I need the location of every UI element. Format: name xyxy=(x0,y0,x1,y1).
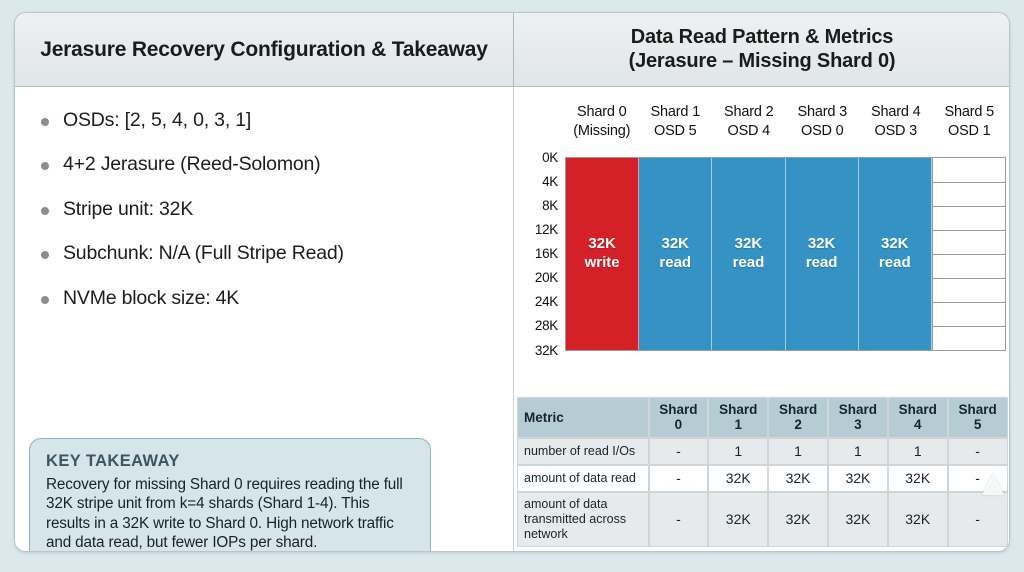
cell-shard3: 32K xyxy=(828,492,888,547)
cell-shard5: - xyxy=(948,438,1008,465)
bar-label-op: read xyxy=(733,254,765,273)
list-item: Subchunk: N/A (Full Stripe Read) xyxy=(41,242,491,264)
bar-label-shard0: 32K write xyxy=(585,235,620,273)
bar-label-shard4: 32K read xyxy=(879,235,911,273)
col-header-shard2: Shard 2 xyxy=(768,397,828,438)
table-row: amount of data read - 32K 32K 32K 32K - xyxy=(517,465,1008,492)
key-takeaway-title: KEY TAKEAWAY xyxy=(46,452,414,471)
cell-shard2: 1 xyxy=(768,438,828,465)
right-panel-title: Data Read Pattern & Metrics (Jerasure – … xyxy=(514,13,1010,86)
y-tick-label: 4K xyxy=(542,175,558,189)
cell-shard1: 32K xyxy=(708,492,768,547)
cell-shard2: 32K xyxy=(768,492,828,547)
chart-plot-area: 32K write 32K read 32K read xyxy=(565,157,1006,351)
body-columns: OSDs: [2, 5, 4, 0, 3, 1] 4+2 Jerasure (R… xyxy=(15,87,1010,552)
bar-label-op: read xyxy=(806,254,838,273)
y-tick-label: 8K xyxy=(542,199,558,213)
table-row: number of read I/Os - 1 1 1 1 - xyxy=(517,438,1008,465)
cell-shard3: 1 xyxy=(828,438,888,465)
bullet-dot-icon xyxy=(41,162,49,170)
cell-shard0: - xyxy=(649,492,709,547)
cell-shard1: 32K xyxy=(708,465,768,492)
bar-label-op: write xyxy=(585,254,620,273)
bar-shard5-empty xyxy=(932,158,1005,350)
chart-col-name: Shard 4 xyxy=(859,103,933,122)
bar-label-size: 32K xyxy=(879,235,911,254)
bar-label-shard1: 32K read xyxy=(659,235,691,273)
list-item: Stripe unit: 32K xyxy=(41,198,491,220)
triangle-watermark-icon xyxy=(982,473,1004,495)
list-item: 4+2 Jerasure (Reed-Solomon) xyxy=(41,153,491,175)
bar-shard1: 32K read xyxy=(639,158,712,350)
config-bullet-text: 4+2 Jerasure (Reed-Solomon) xyxy=(63,153,320,175)
bar-shard2: 32K read xyxy=(712,158,785,350)
config-bullet-text: OSDs: [2, 5, 4, 0, 3, 1] xyxy=(63,109,251,131)
col-header-shard4: Shard 4 xyxy=(888,397,948,438)
chart-col-header-shard3: Shard 3 OSD 0 xyxy=(786,103,860,155)
metrics-table-head: Metric Shard 0 Shard 1 Shard 2 Shard 3 S… xyxy=(517,397,1008,438)
chart-y-axis: 0K 4K 8K 12K 16K 20K 24K 28K 32K xyxy=(518,151,563,357)
y-tick-label: 16K xyxy=(535,247,558,261)
bar-label-size: 32K xyxy=(806,235,838,254)
y-tick-label: 28K xyxy=(535,319,558,333)
bullet-dot-icon xyxy=(41,296,49,304)
y-tick-label: 0K xyxy=(542,151,558,165)
cell-shard4: 1 xyxy=(888,438,948,465)
metrics-table-body: number of read I/Os - 1 1 1 1 - amount o… xyxy=(517,438,1008,547)
y-tick-label: 24K xyxy=(535,295,558,309)
metrics-table: Metric Shard 0 Shard 1 Shard 2 Shard 3 S… xyxy=(516,396,1008,547)
cell-shard3: 32K xyxy=(828,465,888,492)
col-header-metric: Metric xyxy=(517,397,649,438)
bullet-dot-icon xyxy=(41,207,49,215)
table-header-row: Metric Shard 0 Shard 1 Shard 2 Shard 3 S… xyxy=(517,397,1008,438)
y-tick-label: 32K xyxy=(535,344,558,358)
list-item: OSDs: [2, 5, 4, 0, 3, 1] xyxy=(41,109,491,131)
shard-read-pattern-chart: Shard 0 (Missing) Shard 1 OSD 5 Shard 2 … xyxy=(518,103,1010,393)
y-tick-label: 12K xyxy=(535,223,558,237)
bar-shard4: 32K read xyxy=(859,158,932,350)
chart-col-name: Shard 5 xyxy=(933,103,1007,122)
chart-col-header-shard2: Shard 2 OSD 4 xyxy=(712,103,786,155)
col-header-shard1: Shard 1 xyxy=(708,397,768,438)
row-metric-label: amount of data read xyxy=(517,465,649,492)
chart-col-header-shard0: Shard 0 (Missing) xyxy=(565,103,639,155)
chart-col-header-shard1: Shard 1 OSD 5 xyxy=(639,103,713,155)
chart-col-name: Shard 0 xyxy=(565,103,639,122)
config-column: OSDs: [2, 5, 4, 0, 3, 1] 4+2 Jerasure (R… xyxy=(15,87,514,552)
right-panel-title-line2: (Jerasure – Missing Shard 0) xyxy=(629,50,896,74)
chart-gridlines xyxy=(933,158,1005,350)
bullet-dot-icon xyxy=(41,118,49,126)
chart-col-header-shard4: Shard 4 OSD 3 xyxy=(859,103,933,155)
left-panel-title: Jerasure Recovery Configuration & Takeaw… xyxy=(15,13,514,86)
cell-shard0: - xyxy=(649,465,709,492)
key-takeaway-box: KEY TAKEAWAY Recovery for missing Shard … xyxy=(29,438,431,552)
config-bullet-text: NVMe block size: 4K xyxy=(63,287,239,309)
cell-shard0: - xyxy=(649,438,709,465)
chart-col-sublabel: OSD 0 xyxy=(786,122,860,141)
col-header-shard3: Shard 3 xyxy=(828,397,888,438)
bar-label-op: read xyxy=(879,254,911,273)
chart-col-sublabel: OSD 4 xyxy=(712,122,786,141)
list-item: NVMe block size: 4K xyxy=(41,287,491,309)
bar-label-shard3: 32K read xyxy=(806,235,838,273)
chart-col-sublabel: OSD 1 xyxy=(933,122,1007,141)
chart-col-name: Shard 2 xyxy=(712,103,786,122)
right-panel-title-line1: Data Read Pattern & Metrics xyxy=(631,26,893,50)
bullet-dot-icon xyxy=(41,251,49,259)
config-bullet-text: Subchunk: N/A (Full Stripe Read) xyxy=(63,242,344,264)
chart-col-sublabel: OSD 3 xyxy=(859,122,933,141)
slide-panel: Jerasure Recovery Configuration & Takeaw… xyxy=(14,12,1010,552)
chart-col-name: Shard 1 xyxy=(639,103,713,122)
cell-shard2: 32K xyxy=(768,465,828,492)
y-tick-label: 20K xyxy=(535,271,558,285)
chart-col-sublabel: OSD 5 xyxy=(639,122,713,141)
bar-label-size: 32K xyxy=(659,235,691,254)
chart-column-headers: Shard 0 (Missing) Shard 1 OSD 5 Shard 2 … xyxy=(565,103,1006,155)
bar-label-size: 32K xyxy=(585,235,620,254)
header-band: Jerasure Recovery Configuration & Takeaw… xyxy=(15,13,1010,87)
chart-col-name: Shard 3 xyxy=(786,103,860,122)
config-bullet-list: OSDs: [2, 5, 4, 0, 3, 1] 4+2 Jerasure (R… xyxy=(41,109,491,331)
cell-shard1: 1 xyxy=(708,438,768,465)
metrics-column: Shard 0 (Missing) Shard 1 OSD 5 Shard 2 … xyxy=(514,87,1010,552)
chart-col-header-shard5: Shard 5 OSD 1 xyxy=(933,103,1007,155)
cell-shard4: 32K xyxy=(888,465,948,492)
bar-label-size: 32K xyxy=(733,235,765,254)
col-header-shard5: Shard 5 xyxy=(948,397,1008,438)
row-metric-label: amount of data transmitted across networ… xyxy=(517,492,649,547)
col-header-shard0: Shard 0 xyxy=(649,397,709,438)
row-metric-label: number of read I/Os xyxy=(517,438,649,465)
cell-shard4: 32K xyxy=(888,492,948,547)
cell-shard5: - xyxy=(948,492,1008,547)
bar-label-shard2: 32K read xyxy=(733,235,765,273)
bar-shard3: 32K read xyxy=(786,158,859,350)
chart-col-sublabel: (Missing) xyxy=(565,122,639,141)
bar-label-op: read xyxy=(659,254,691,273)
bar-shard0: 32K write xyxy=(566,158,639,350)
key-takeaway-body: Recovery for missing Shard 0 requires re… xyxy=(46,475,414,552)
table-row: amount of data transmitted across networ… xyxy=(517,492,1008,547)
config-bullet-text: Stripe unit: 32K xyxy=(63,198,193,220)
